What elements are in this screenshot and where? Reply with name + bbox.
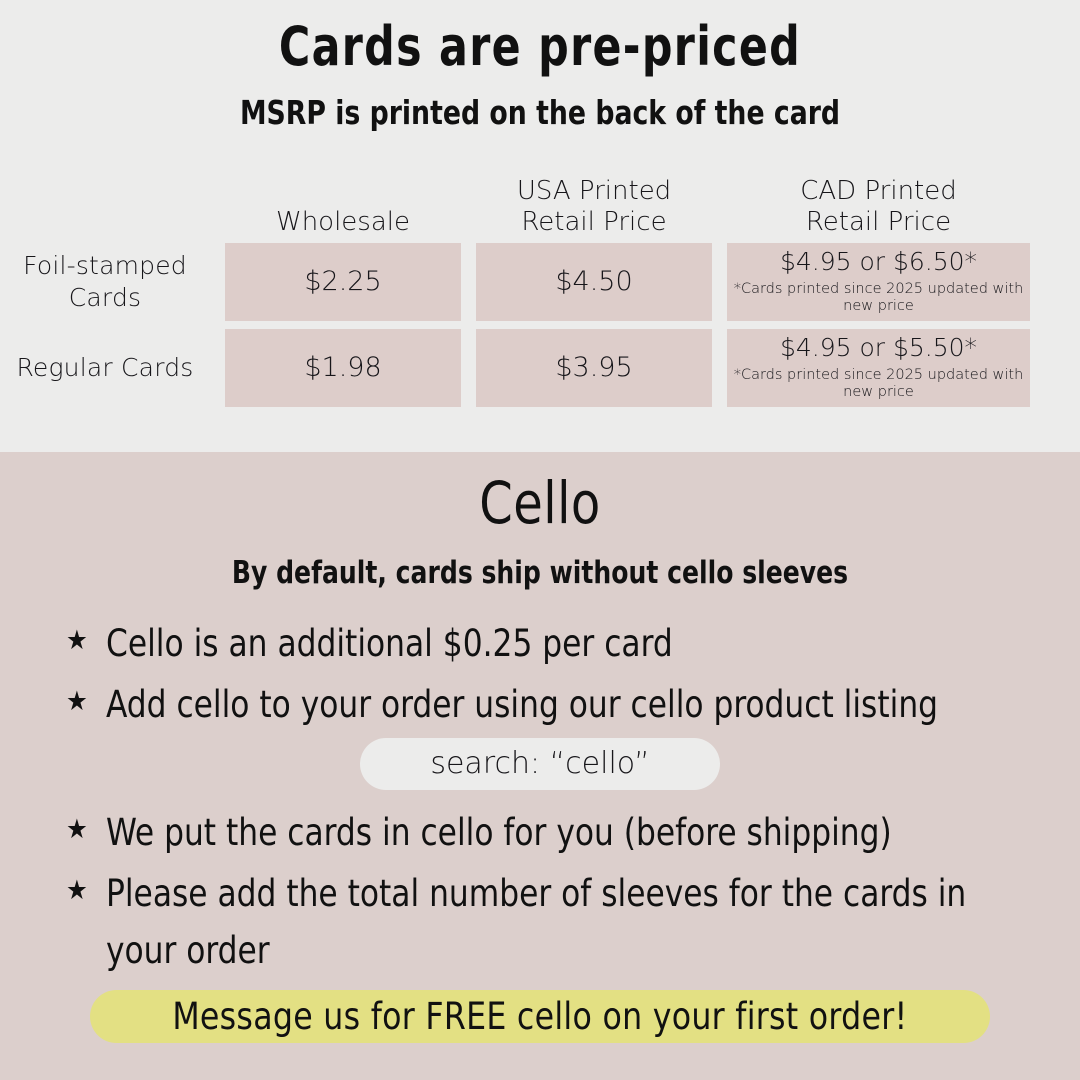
cello-bullet-list: ★ Cello is an additional $0.25 per card …: [0, 589, 1080, 734]
list-item: ★ We put the cards in cello for you (bef…: [66, 804, 1034, 861]
cell-foil-cad: $4.95 or $6.50* *Cards printed since 202…: [727, 243, 1030, 321]
list-item-label: Please add the total number of sleeves f…: [106, 865, 979, 980]
column-header-usa-line2: Retail Price: [521, 207, 666, 237]
cta-wrapper: Message us for FREE cello on your first …: [0, 990, 1080, 1043]
column-header-usa: USA Printed Retail Price: [476, 176, 712, 243]
table-header-row: Wholesale USA Printed Retail Price CAD P…: [0, 165, 1080, 243]
star-icon: ★: [66, 676, 88, 727]
cell-foil-wholesale: $2.25: [225, 243, 461, 321]
cell-regular-cad-note: *Cards printed since 2025 updated with n…: [727, 367, 1030, 402]
cell-regular-wholesale-value: $1.98: [304, 353, 381, 383]
cello-subtitle: By default, cards ship without cello sle…: [54, 532, 1026, 589]
list-item: ★ Add cello to your order using our cell…: [66, 676, 1034, 733]
column-header-usa-label: USA Printed Retail Price: [517, 176, 671, 239]
row-label-foil-line2: Cards: [69, 283, 142, 312]
column-gap: [461, 243, 476, 321]
cello-section: Cello By default, cards ship without cel…: [0, 452, 1080, 1080]
star-icon: ★: [66, 804, 88, 855]
message-us-cta-label: Message us for FREE cello on your first …: [172, 995, 907, 1038]
cell-foil-cad-note: *Cards printed since 2025 updated with n…: [727, 281, 1030, 316]
cell-regular-cad-value: $4.95 or $5.50*: [780, 334, 977, 363]
cello-bullet-list-continued: ★ We put the cards in cello for you (bef…: [0, 796, 1080, 980]
row-label-foil-line1: Foil-stamped: [23, 251, 187, 280]
cell-foil-cad-value: $4.95 or $6.50*: [780, 248, 977, 277]
column-header-wholesale-label: Wholesale: [276, 207, 410, 239]
message-us-cta-button[interactable]: Message us for FREE cello on your first …: [90, 990, 990, 1043]
list-item-label: Cello is an additional $0.25 per card: [106, 615, 673, 672]
column-gap: [712, 329, 727, 407]
column-header-cad-line2: Retail Price: [806, 207, 951, 237]
column-header-cad: CAD Printed Retail Price: [727, 176, 1030, 243]
cell-regular-wholesale: $1.98: [225, 329, 461, 407]
star-icon: ★: [66, 865, 88, 916]
row-label-foil-stamped-text: Foil-stamped Cards: [23, 250, 187, 314]
cello-title: Cello: [43, 452, 1037, 532]
row-label-regular-text: Regular Cards: [16, 352, 193, 384]
cell-regular-usa: $3.95: [476, 329, 712, 407]
price-table: Wholesale USA Printed Retail Price CAD P…: [0, 165, 1080, 407]
cell-regular-usa-value: $3.95: [555, 353, 632, 383]
table-row: Regular Cards $1.98 $3.95 $4.95 or $5.50…: [0, 329, 1080, 407]
column-header-wholesale: Wholesale: [225, 207, 461, 243]
row-label-foil-stamped: Foil-stamped Cards: [0, 243, 210, 321]
table-row: Foil-stamped Cards $2.25 $4.50 $4.95 or …: [0, 243, 1080, 321]
row-label-regular: Regular Cards: [0, 329, 210, 407]
row-gap: [0, 321, 1080, 329]
list-item-label: We put the cards in cello for you (befor…: [106, 804, 892, 861]
list-item: ★ Cello is an additional $0.25 per card: [66, 615, 1034, 672]
cell-foil-wholesale-value: $2.25: [304, 267, 381, 297]
page-subtitle: MSRP is printed on the back of the card: [54, 74, 1026, 129]
search-term-pill[interactable]: search: “cello”: [360, 738, 720, 790]
cell-foil-usa: $4.50: [476, 243, 712, 321]
cell-foil-usa-value: $4.50: [555, 267, 632, 297]
column-gap: [461, 329, 476, 407]
list-item: ★ Please add the total number of sleeves…: [66, 865, 1034, 980]
column-header-cad-line1: CAD Printed: [800, 176, 957, 206]
column-gap: [712, 243, 727, 321]
infographic-page: Cards are pre-priced MSRP is printed on …: [0, 0, 1080, 1080]
column-gap: [210, 243, 225, 321]
star-icon: ★: [66, 615, 88, 666]
column-header-usa-line1: USA Printed: [517, 176, 671, 206]
page-title: Cards are pre-priced: [65, 0, 1015, 74]
column-header-cad-label: CAD Printed Retail Price: [800, 176, 957, 239]
cell-regular-cad: $4.95 or $5.50* *Cards printed since 202…: [727, 329, 1030, 407]
pricing-section: Cards are pre-priced MSRP is printed on …: [0, 0, 1080, 452]
search-pill-wrapper: search: “cello”: [0, 738, 1080, 790]
column-gap: [210, 329, 225, 407]
list-item-label: Add cello to your order using our cello …: [106, 676, 938, 733]
